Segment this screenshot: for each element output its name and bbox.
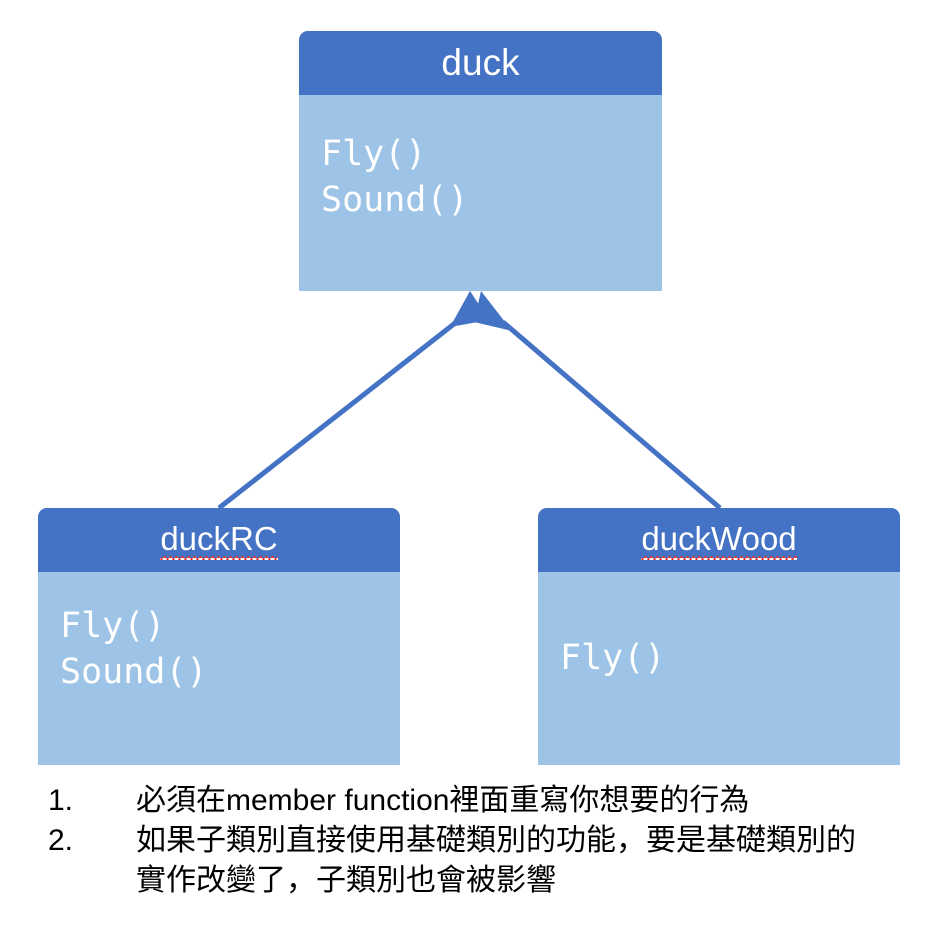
class-methods-duck: Fly() Sound() bbox=[299, 95, 662, 223]
arrowhead-right-icon bbox=[474, 291, 512, 331]
note-text: 如果子類別直接使用基礎類別的功能，要是基礎類別的實作改變了，子類別也會被影響 bbox=[136, 821, 881, 901]
inheritance-arrow-duckwood bbox=[474, 291, 720, 508]
notes-list: 1. 必須在member function裡面重寫你想要的行為 2. 如果子類別… bbox=[48, 781, 928, 901]
class-box-duck[interactable]: duck Fly() Sound() bbox=[299, 31, 662, 291]
note-text: 必須在member function裡面重寫你想要的行為 bbox=[136, 781, 881, 821]
class-header-duck: duck bbox=[299, 31, 662, 95]
inheritance-arrow-duckrc bbox=[219, 291, 489, 508]
diagram-canvas: duck Fly() Sound() duckRC Fly() Sound() … bbox=[0, 0, 939, 940]
note-item: 1. 必須在member function裡面重寫你想要的行為 bbox=[48, 781, 928, 821]
note-item: 2. 如果子類別直接使用基礎類別的功能，要是基礎類別的實作改變了，子類別也會被影… bbox=[48, 821, 928, 901]
class-title-duckwood: duckWood bbox=[641, 520, 796, 560]
class-title-duck: duck bbox=[441, 42, 519, 84]
class-methods-duckwood: Fly() bbox=[538, 572, 900, 682]
class-methods-duckrc: Fly() Sound() bbox=[38, 572, 400, 695]
note-marker: 2. bbox=[48, 821, 136, 861]
arrowhead-left-icon bbox=[450, 291, 489, 327]
class-title-duckrc: duckRC bbox=[160, 520, 277, 560]
class-header-duckwood: duckWood bbox=[538, 508, 900, 572]
note-marker: 1. bbox=[48, 781, 136, 821]
class-header-duckrc: duckRC bbox=[38, 508, 400, 572]
class-box-duckwood[interactable]: duckWood Fly() bbox=[538, 508, 900, 765]
class-box-duckrc[interactable]: duckRC Fly() Sound() bbox=[38, 508, 400, 765]
